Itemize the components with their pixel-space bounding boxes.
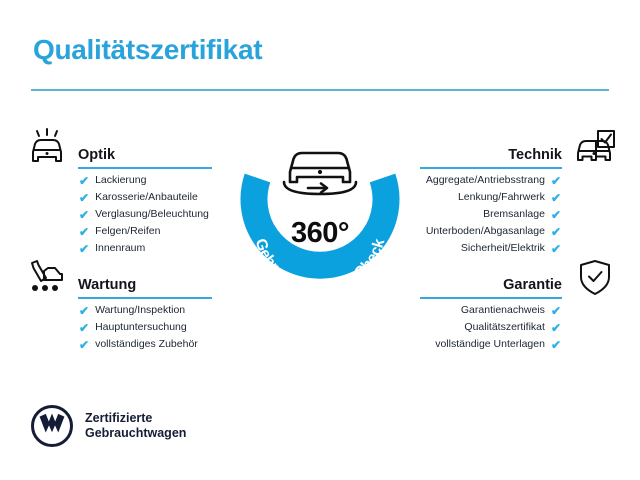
list-item: ✔Hauptuntersuchung [22,319,212,336]
list-item-label: Felgen/Reifen [95,223,160,240]
car-shine-icon [24,128,70,168]
check-icon: ✔ [551,226,561,238]
check-icon: ✔ [551,175,561,187]
list-item-label: Lenkung/Fahrwerk [458,189,545,206]
list-item: ✔Felgen/Reifen [22,223,212,240]
list-item-label: Garantienachweis [461,302,545,319]
section-wartung-title: Wartung [78,277,136,293]
section-wartung-list: ✔Wartung/Inspektion ✔Hauptuntersuchung ✔… [22,302,212,353]
footer-brand: Zertifizierte Gebrauchtwagen [31,405,186,447]
header-divider [31,89,609,91]
list-item: Aggregate/Antriebsstrang✔ [420,172,618,189]
car-checkbox-icon [572,128,618,168]
list-item: vollständige Unterlagen✔ [420,336,618,353]
check-icon: ✔ [551,209,561,221]
footer-brand-text: Zertifizierte Gebrauchtwagen [85,411,186,441]
vw-logo-icon [31,405,73,447]
list-item-label: Sicherheit/Elektrik [461,240,545,257]
section-technik-list: Aggregate/Antriebsstrang✔ Lenkung/Fahrwe… [420,172,618,257]
list-item: Unterboden/Abgasanlage✔ [420,223,618,240]
section-garantie-title: Garantie [503,277,562,293]
check-icon: ✔ [551,192,561,204]
section-optik: Optik ✔Lackierung ✔Karosserie/Anbauteile… [22,128,212,257]
section-wartung-divider [78,297,212,299]
check-icon: ✔ [551,305,561,317]
list-item: ✔Wartung/Inspektion [22,302,212,319]
footer-line-2: Gebrauchtwagen [85,426,186,440]
footer-line-1: Zertifizierte [85,411,152,425]
list-item: Sicherheit/Elektrik✔ [420,240,618,257]
list-item-label: Verglasung/Beleuchtung [95,206,209,223]
list-item-label: Wartung/Inspektion [95,302,185,319]
list-item-label: Hauptuntersuchung [95,319,187,336]
section-technik-title: Technik [508,147,562,163]
list-item-label: Unterboden/Abgasanlage [426,223,545,240]
list-item: Bremsanlage✔ [420,206,618,223]
section-technik-header: Technik [420,128,618,172]
list-item-label: vollständige Unterlagen [435,336,545,353]
list-item-label: Aggregate/Antriebsstrang [426,172,545,189]
section-wartung-header: Wartung [22,258,212,302]
list-item: ✔Innenraum [22,240,212,257]
shield-check-icon [572,258,618,298]
check-icon: ✔ [551,322,561,334]
section-technik-divider [420,167,562,169]
section-garantie: Garantie Garantienachweis✔ Qualitätszert… [420,258,618,353]
list-item: ✔Karosserie/Anbauteile [22,189,212,206]
list-item: ✔vollständiges Zubehör [22,336,212,353]
list-item-label: vollständiges Zubehör [95,336,198,353]
section-optik-divider [78,167,212,169]
car-rotate-360-icon [284,153,356,194]
section-garantie-divider [420,297,562,299]
page-title: Qualitätszertifikat [33,34,262,66]
list-item-label: Innenraum [95,240,145,257]
section-garantie-header: Garantie [420,258,618,302]
section-optik-title: Optik [78,147,115,163]
badge-center-label: 360° [232,217,408,250]
list-item: Garantienachweis✔ [420,302,618,319]
section-garantie-list: Garantienachweis✔ Qualitätszertifikat✔ v… [420,302,618,353]
section-technik: Technik Aggregate/Antriebsstrang✔ Lenkun… [420,128,618,257]
check-icon: ✔ [79,322,89,334]
list-item-label: Bremsanlage [483,206,545,223]
check-icon: ✔ [79,243,89,255]
check-icon: ✔ [79,226,89,238]
list-item-label: Karosserie/Anbauteile [95,189,198,206]
section-optik-header: Optik [22,128,212,172]
section-wartung: Wartung ✔Wartung/Inspektion ✔Hauptunters… [22,258,212,353]
check-icon: ✔ [551,243,561,255]
certificate-page: Qualitätszertifikat Optik [0,0,640,480]
check-icon: ✔ [551,339,561,351]
list-item: ✔Verglasung/Beleuchtung [22,206,212,223]
check-icon: ✔ [79,339,89,351]
pen-car-service-icon [24,258,70,298]
badge-360-gebrauchtwagen-check: Gebrauchtwagen-Check 360° [232,120,408,306]
list-item: ✔Lackierung [22,172,212,189]
check-icon: ✔ [79,209,89,221]
list-item: Lenkung/Fahrwerk✔ [420,189,618,206]
list-item-label: Qualitätszertifikat [464,319,545,336]
section-optik-list: ✔Lackierung ✔Karosserie/Anbauteile ✔Verg… [22,172,212,257]
check-icon: ✔ [79,305,89,317]
check-icon: ✔ [79,175,89,187]
check-icon: ✔ [79,192,89,204]
list-item: Qualitätszertifikat✔ [420,319,618,336]
list-item-label: Lackierung [95,172,146,189]
